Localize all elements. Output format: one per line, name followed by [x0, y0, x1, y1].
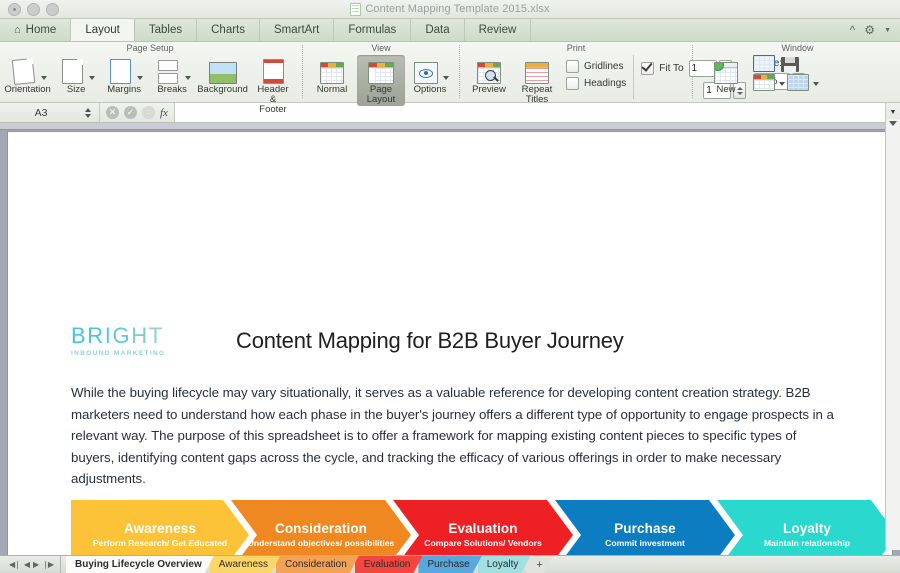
- ribbon-tab-actions: ^ ⚙ ▼: [850, 19, 900, 41]
- stage-awareness[interactable]: Awareness Perform Research/ Get Educated: [71, 500, 249, 555]
- bright-logo: BRIGHT INBOUND MARKETING: [71, 325, 189, 357]
- page-margin-strip: [0, 123, 900, 130]
- stage-subtitle: Maintain relationship: [756, 538, 858, 549]
- ribbon-tab-home[interactable]: ⌂ Home: [0, 19, 71, 41]
- next-sheet-icon[interactable]: ▶: [33, 561, 38, 569]
- sheet-tab-awareness[interactable]: Awareness: [210, 556, 280, 573]
- stage-subtitle: Understand objectives/ possibilities: [240, 538, 403, 549]
- ribbon-divider: [302, 45, 303, 98]
- cancel-x-icon[interactable]: ✕: [106, 106, 119, 119]
- margins-label: Margins: [107, 85, 141, 95]
- stage-loyalty[interactable]: Loyalty Maintain relationship: [717, 500, 897, 555]
- fit-to-label: Fit To: [659, 63, 683, 74]
- stage-title: Loyalty: [783, 521, 831, 536]
- page-sheet[interactable]: BRIGHT INBOUND MARKETING Content Mapping…: [8, 132, 892, 555]
- normal-view-button[interactable]: Normal: [309, 55, 355, 96]
- ribbon-group-page-setup-label: Page Setup: [0, 42, 300, 54]
- sheet-tab-label: Loyalty: [487, 559, 519, 570]
- ribbon-tab-filler: [531, 19, 849, 41]
- gridlines-checkbox[interactable]: Gridlines: [566, 60, 626, 73]
- checkbox-box: [641, 62, 654, 75]
- page-layout-view-icon: [366, 56, 396, 84]
- normal-view-icon: [317, 56, 347, 84]
- sheet-nav-buttons[interactable]: ◀❘ ◀ ▶ ❘▶: [0, 561, 60, 569]
- ribbon-tab-tables[interactable]: Tables: [135, 19, 197, 41]
- ribbon-tab-smartart-label: SmartArt: [274, 24, 319, 36]
- print-preview-label: Preview: [472, 85, 506, 95]
- page-background-icon: [208, 56, 238, 84]
- size-label: Size: [67, 85, 85, 95]
- sheet-tab-label: Purchase: [427, 559, 469, 570]
- checkbox-box: [566, 60, 579, 73]
- sheet-tab-label: Consideration: [285, 559, 347, 570]
- ribbon-tab-layout[interactable]: Layout: [71, 19, 135, 41]
- logo-secondary-text: INBOUND MARKETING: [71, 350, 189, 357]
- sheet-tab-evaluation[interactable]: Evaluation: [355, 556, 423, 573]
- ribbon-tab-data-label: Data: [425, 24, 449, 36]
- stage-subtitle: Perform Research/ Get Educated: [85, 538, 235, 549]
- ribbon-tab-tables-label: Tables: [149, 24, 182, 36]
- orientation-button[interactable]: Orientation: [4, 55, 51, 96]
- sheet-tab-bar: ◀❘ ◀ ▶ ❘▶ Buying Lifecycle Overview Awar…: [0, 555, 900, 573]
- sheet-tab-label: Buying Lifecycle Overview: [75, 559, 202, 570]
- page-breaks-icon: [153, 56, 183, 84]
- sheet-tab-loyalty[interactable]: Loyalty: [478, 556, 531, 573]
- new-window-label: New: [716, 85, 735, 95]
- ribbon-group-print: Print Preview Repeat Titles: [462, 42, 690, 102]
- home-icon: ⌂: [14, 25, 21, 36]
- window-title-bar: Content Mapping Template 2015.xlsx: [0, 0, 900, 19]
- checkbox-box: [566, 77, 579, 90]
- repeat-titles-icon: [522, 56, 552, 84]
- ribbon-tab-layout-label: Layout: [85, 24, 120, 36]
- background-button[interactable]: Background: [197, 55, 248, 96]
- new-window-button[interactable]: New: [703, 55, 749, 96]
- chevron-down-icon[interactable]: [137, 76, 143, 80]
- ribbon-group-window-label: Window: [695, 42, 900, 54]
- print-preview-icon: [474, 56, 504, 84]
- ribbon-tab-review[interactable]: Review: [465, 19, 532, 41]
- page-title: Content Mapping for B2B Buyer Journey: [236, 328, 624, 354]
- page-size-icon: [57, 56, 87, 84]
- worksheet-canvas[interactable]: BRIGHT INBOUND MARKETING Content Mapping…: [0, 123, 900, 555]
- ribbon-group-window: Window New: [695, 42, 900, 102]
- stage-title: Consideration: [275, 521, 367, 536]
- add-sheet-label: +: [536, 559, 542, 571]
- stage-subtitle: Compare Solutions/ Vendors: [416, 538, 549, 549]
- sheet-tab-buying-lifecycle-overview[interactable]: Buying Lifecycle Overview: [66, 556, 214, 573]
- sheet-bar-filler: [884, 556, 900, 573]
- arrange-windows-icon[interactable]: [753, 75, 775, 91]
- add-sheet-button[interactable]: +: [526, 556, 552, 573]
- chevron-down-icon[interactable]: [813, 82, 819, 86]
- window-title: Content Mapping Template 2015.xlsx: [0, 3, 900, 16]
- new-window-icon: [711, 56, 741, 84]
- ribbon-tab-formulas-label: Formulas: [348, 24, 396, 36]
- intro-paragraph: While the buying lifecycle may vary situ…: [71, 382, 843, 490]
- print-preview-button[interactable]: Preview: [466, 55, 512, 96]
- ribbon-tab-formulas[interactable]: Formulas: [334, 19, 411, 41]
- breaks-button[interactable]: Breaks: [149, 55, 195, 96]
- sheet-tab-consideration[interactable]: Consideration: [276, 556, 359, 573]
- freeze-panes-icon[interactable]: [753, 56, 775, 72]
- prev-sheet-icon[interactable]: ◀: [24, 561, 29, 569]
- stage-title: Purchase: [614, 521, 676, 536]
- page-orientation-icon: [9, 56, 39, 84]
- excel-document-icon: [350, 3, 361, 16]
- chevron-down-icon[interactable]: [89, 76, 95, 80]
- size-button[interactable]: Size: [53, 55, 99, 96]
- sheet-tab-purchase[interactable]: Purchase: [418, 556, 481, 573]
- vertical-scrollbar[interactable]: [885, 119, 900, 550]
- ribbon-tab-charts-label: Charts: [211, 24, 245, 36]
- first-sheet-icon[interactable]: ◀❘: [9, 561, 20, 569]
- margins-button[interactable]: Margins: [101, 55, 147, 96]
- chevron-down-icon[interactable]: [779, 82, 785, 86]
- ribbon-tab-data[interactable]: Data: [411, 19, 464, 41]
- gridlines-label: Gridlines: [584, 61, 623, 72]
- gear-icon[interactable]: ⚙: [864, 23, 875, 37]
- repeat-titles-label: Repeat Titles: [517, 85, 557, 105]
- ribbon-group-page-setup: Page Setup Orientation Size: [0, 42, 300, 102]
- headings-checkbox[interactable]: Headings: [566, 77, 626, 90]
- page-layout-view-button[interactable]: Page Layout: [357, 55, 405, 106]
- buyer-journey-chevrons: Awareness Perform Research/ Get Educated…: [71, 500, 871, 555]
- sheet-tabs: Buying Lifecycle Overview Awareness Cons…: [61, 556, 553, 573]
- chevron-down-icon[interactable]: [185, 76, 191, 80]
- stage-title: Awareness: [124, 521, 196, 536]
- window-title-text: Content Mapping Template 2015.xlsx: [365, 3, 549, 15]
- stage-title: Evaluation: [448, 521, 517, 536]
- stage-evaluation[interactable]: Evaluation Compare Solutions/ Vendors: [393, 500, 573, 555]
- ribbon-tab-bar: ⌂ Home Layout Tables Charts SmartArt For…: [0, 19, 900, 42]
- repeat-titles-button[interactable]: Repeat Titles: [514, 55, 560, 106]
- ribbon-divider: [459, 45, 460, 98]
- split-window-icon[interactable]: [787, 75, 809, 91]
- view-options-icon: [411, 56, 441, 84]
- stage-subtitle: Commit investment: [597, 538, 693, 549]
- stage-consideration[interactable]: Consideration Understand objectives/ pos…: [231, 500, 411, 555]
- orientation-label: Orientation: [4, 85, 50, 95]
- header-footer-button[interactable]: Header & Footer: [250, 55, 296, 116]
- header-footer-icon: [258, 56, 288, 84]
- ribbon-divider: [633, 55, 634, 99]
- stage-purchase[interactable]: Purchase Commit investment: [555, 500, 735, 555]
- chevron-down-icon[interactable]: [41, 76, 47, 80]
- view-options-button[interactable]: Options: [407, 55, 453, 96]
- normal-view-label: Normal: [317, 85, 348, 95]
- ribbon-group-view-label: View: [305, 42, 457, 54]
- scroll-up-icon[interactable]: [889, 121, 897, 126]
- ribbon-group-print-label: Print: [462, 42, 690, 54]
- equals-icon: =: [142, 106, 155, 119]
- ribbon-tab-home-label: Home: [26, 24, 57, 36]
- ribbon-tab-review-label: Review: [479, 24, 517, 36]
- save-workspace-icon[interactable]: [779, 56, 801, 72]
- chevron-up-icon[interactable]: ^: [850, 23, 856, 37]
- excel-window: Content Mapping Template 2015.xlsx ⌂ Hom…: [0, 0, 900, 567]
- last-sheet-icon[interactable]: ❘▶: [42, 561, 53, 569]
- chevron-down-icon[interactable]: ▼: [884, 27, 891, 34]
- page-margins-icon: [105, 56, 135, 84]
- page-layout-view-label: Page Layout: [360, 85, 402, 105]
- breaks-label: Breaks: [157, 85, 187, 95]
- sheet-tab-label: Evaluation: [364, 559, 411, 570]
- headings-label: Headings: [584, 78, 626, 89]
- header-footer-label: Header & Footer: [253, 85, 293, 115]
- background-label: Background: [197, 85, 248, 95]
- ribbon-tab-smartart[interactable]: SmartArt: [260, 19, 334, 41]
- logo-primary-text: BRIGHT: [71, 325, 189, 347]
- ribbon: Page Setup Orientation Size: [0, 42, 900, 103]
- accept-check-icon[interactable]: ✓: [124, 106, 137, 119]
- ribbon-tab-charts[interactable]: Charts: [197, 19, 260, 41]
- chevron-down-icon[interactable]: [443, 76, 449, 80]
- sheet-tab-label: Awareness: [219, 559, 268, 570]
- view-options-label: Options: [414, 85, 447, 95]
- ribbon-group-view: View Normal Page Layout: [305, 42, 457, 102]
